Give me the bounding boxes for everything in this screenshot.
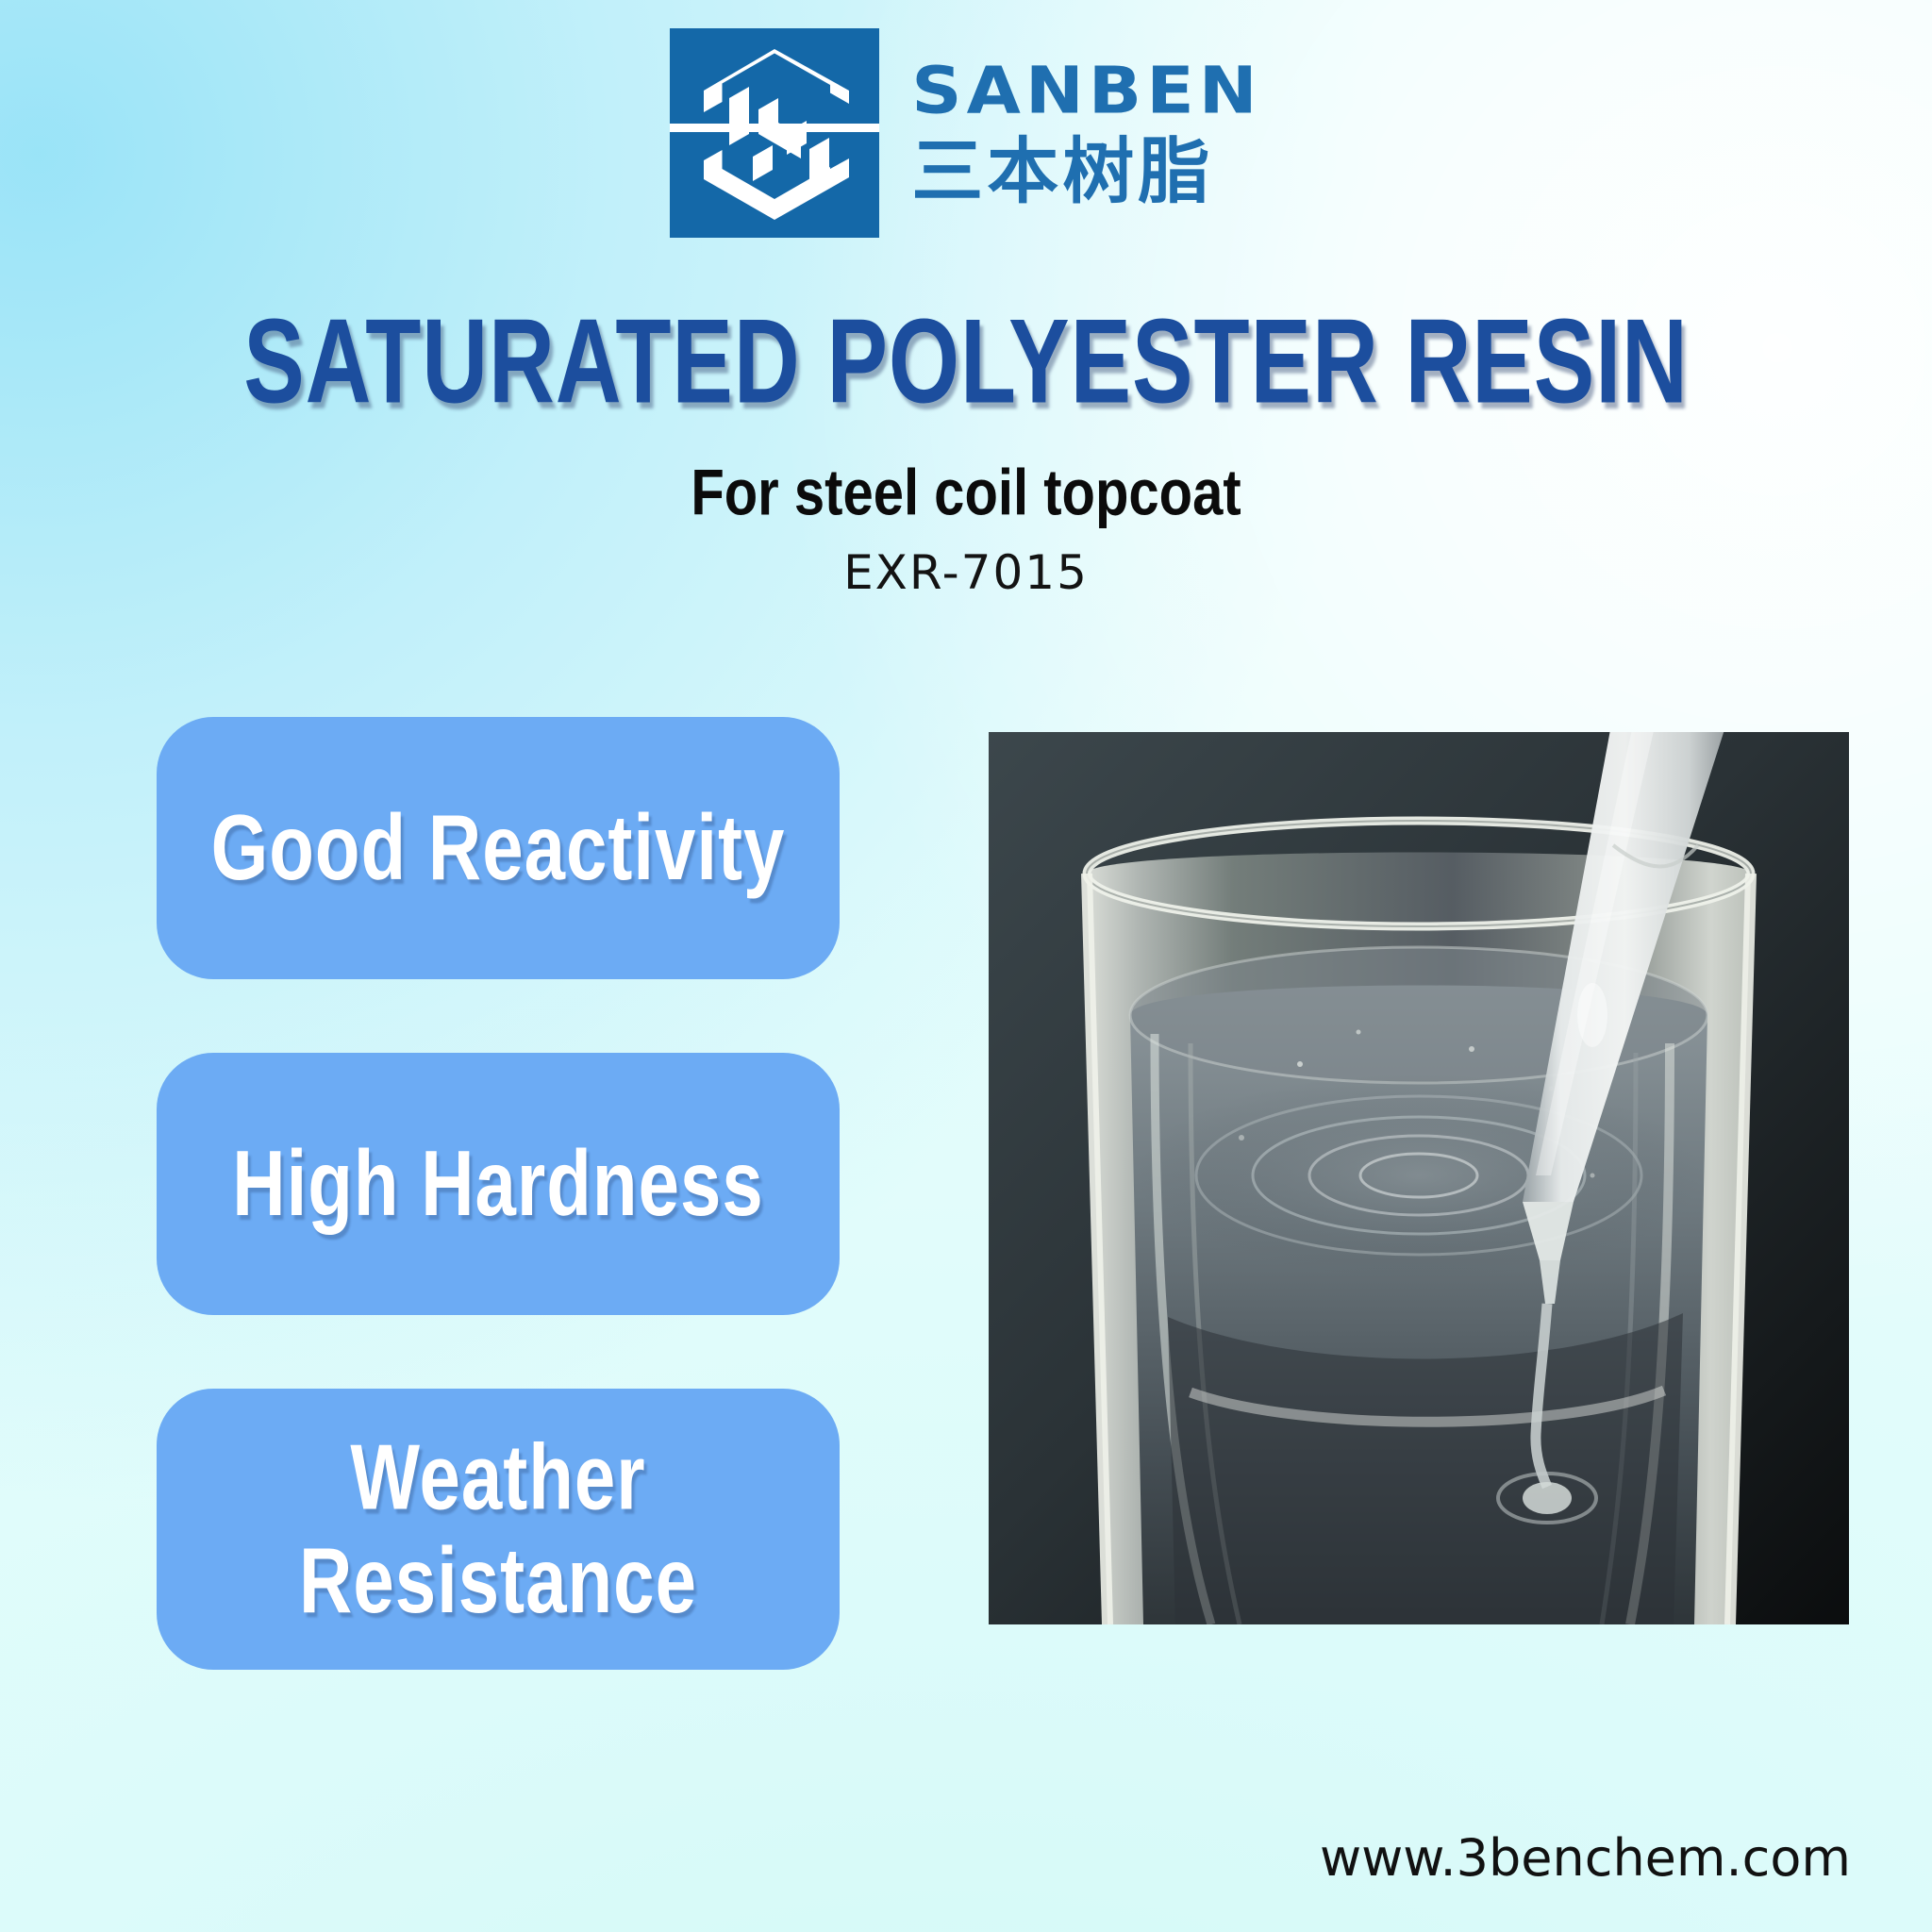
feature-list: Good Reactivity High Hardness Weather Re…	[157, 717, 840, 1743]
page-subtitle: For steel coil topcoat	[0, 456, 1932, 530]
brand-name-en: SANBEN	[911, 58, 1261, 125]
feature-label: Good Reactivity	[211, 796, 786, 900]
brand-header: SANBEN 三本树脂	[0, 28, 1932, 238]
product-poster: SANBEN 三本树脂 SATURATED POLYESTER RESIN Fo…	[0, 0, 1932, 1932]
feature-label: High Hardness	[232, 1132, 763, 1236]
brand-name-cn: 三本树脂	[911, 132, 1213, 211]
website-url[interactable]: www.3benchem.com	[0, 1828, 1851, 1888]
feature-box-weather-resistance: Weather Resistance	[157, 1389, 840, 1670]
feature-label: Weather Resistance	[299, 1425, 697, 1633]
feature-box-hardness: High Hardness	[157, 1053, 840, 1315]
page-title: SATURATED POLYESTER RESIN	[68, 294, 1865, 431]
feature-box-reactivity: Good Reactivity	[157, 717, 840, 979]
product-photo	[989, 732, 1849, 1624]
product-code: EXR-7015	[0, 545, 1932, 600]
brand-text: SANBEN 三本树脂	[911, 55, 1261, 210]
sanben-hexagon-logo-icon	[670, 28, 879, 238]
